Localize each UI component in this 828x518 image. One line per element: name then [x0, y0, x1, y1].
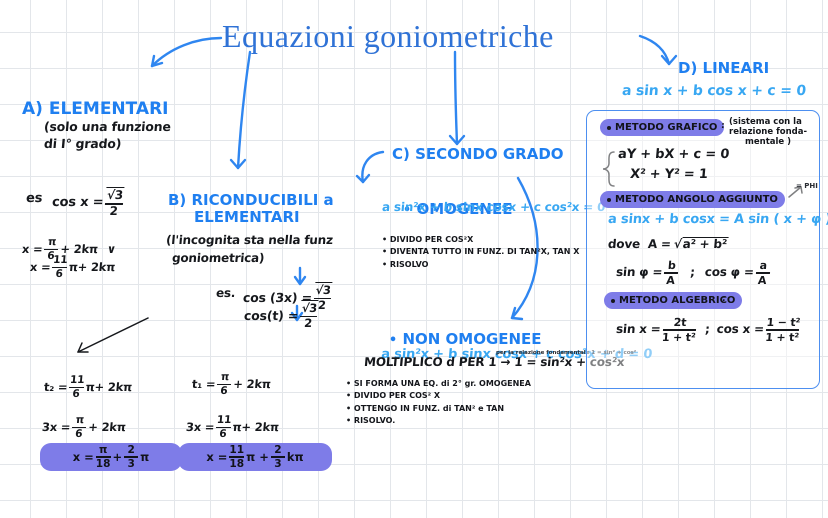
sol2-tail: + 2kπ — [77, 261, 116, 274]
sol1-num: π — [48, 237, 57, 248]
branch-left-result-pill: x = π18 + 23 π — [40, 443, 182, 471]
metodo-angolo-label: METODO ANGOLO AGGIUNTO — [615, 194, 778, 205]
non-omogenee-step-0: • SI FORMA UNA EQ. di 2° gr. OMOGENEA — [346, 378, 531, 390]
metodo-algebrico-label: METODO ALGEBRICO — [619, 295, 735, 306]
sol2-num: 11 — [53, 255, 68, 266]
section-a-example-label: es — [25, 192, 42, 207]
section-b-example-label: es. — [215, 287, 235, 300]
page-title: Equazioni goniometriche — [222, 18, 554, 55]
note-line-1: (sistema con la — [729, 117, 807, 127]
branch-left-x: 3x = π6 + 2kπ — [41, 415, 127, 440]
bullet-dot-icon — [607, 126, 611, 130]
phi-separator: ; — [690, 266, 696, 279]
bullet-dot-icon — [607, 198, 611, 202]
omogenee-formula: a sin²x + b sinx cosx + c cos²x = 0 — [381, 201, 605, 214]
branch-left-t-num: 11 — [70, 375, 85, 386]
branch-right-t: t₁ = π6 + 2kπ — [191, 372, 272, 397]
phi-note: = PHI — [796, 182, 818, 190]
system-line-2: X² + Y² = 1 — [629, 168, 708, 183]
cos-phi-den: A — [757, 275, 766, 286]
branch-left-x-num: π — [75, 415, 84, 426]
metodo-grafico-label: METODO GRAFICO — [615, 122, 717, 133]
section-b-eq-num: √3 — [314, 282, 333, 297]
branch-left-x-den: 6 — [75, 429, 83, 440]
section-a-solution-2: x = 116 π + 2kπ — [29, 255, 116, 280]
branch-right-x-tail: + 2kπ — [241, 421, 280, 434]
branch-left-result-num: π — [99, 445, 107, 456]
branch-right-t-den: 6 — [220, 386, 228, 397]
branch-right-x: 3x = 116 π + 2kπ — [185, 415, 280, 440]
alg-cos-label: cos x = — [716, 323, 764, 336]
alg-cos-num: 1 − t² — [766, 317, 800, 328]
omogenee-step-0: • DIVIDO PER COS²X — [382, 234, 579, 246]
sin-phi-den: A — [666, 275, 675, 286]
section-a-eq-num: √3 — [105, 187, 124, 202]
metodo-angolo-phi-relations: sin φ = bA ; cos φ = aA — [615, 260, 773, 286]
branch-right-result-pill: x = 1118 π + 23 kπ — [178, 443, 332, 471]
substitution-den: 2 — [304, 318, 313, 330]
non-omogenee-steps: • SI FORMA UNA EQ. di 2° gr. OMOGENEA • … — [346, 378, 531, 428]
branch-left-t: t₂ = 116 π + 2kπ — [43, 375, 133, 400]
non-omogenee-step-1: • DIVIDO PER COS² X — [346, 390, 531, 402]
branch-right-x-lead: 3x = — [185, 421, 214, 434]
section-d-heading: D) LINEARI — [678, 60, 769, 77]
section-b-heading-2: ELEMENTARI — [194, 209, 300, 226]
metodo-algebrico-substitutions: sin x = 2t1 + t² ; cos x = 1 − t²1 + t² — [615, 317, 803, 343]
branch-left-t-den: 6 — [72, 389, 80, 400]
branch-right-t-num: π — [220, 372, 229, 383]
where-label: dove A = — [607, 238, 671, 251]
branch-right-result-num2: 2 — [274, 445, 281, 456]
branch-left-result-den: 18 — [96, 459, 111, 470]
section-a-eq-lhs: cos x = — [51, 196, 104, 211]
branch-left-result-lead: x = — [73, 450, 94, 464]
omogenee-step-1: • DIVENTA TUTTO IN FUNZ. DI TAN²X, TAN X — [382, 246, 579, 258]
alg-sin-label: sin x = — [615, 323, 661, 336]
alg-sin-den: 1 + t² — [661, 332, 695, 343]
branch-left-t-label: t₂ = — [43, 381, 68, 394]
section-b-subtitle-2: goniometrica) — [171, 252, 264, 265]
branch-right-result-lead: x = — [206, 450, 227, 464]
section-b-substitution: cos(t) = √32 — [243, 303, 321, 330]
section-a-eq-fraction: √3 2 — [104, 190, 124, 218]
substitution-lhs: cos(t) = — [243, 309, 298, 323]
branch-left-result-den2: 3 — [127, 459, 134, 470]
branch-left-result-tail: π — [140, 450, 149, 464]
section-d-formula: a sin x + b cos x + c = 0 — [621, 84, 806, 100]
metodo-grafico-note: (sistema con la relazione fonda- mentale… — [729, 117, 807, 147]
metodo-angolo-formula: a sinx + b cosx = A sin ( x + φ ) — [607, 213, 828, 228]
omogenee-steps: • DIVIDO PER COS²X • DIVENTA TUTTO IN FU… — [382, 234, 579, 271]
branch-left-x-tail: + 2kπ — [88, 421, 127, 434]
branch-right-t-label: t₁ = — [191, 378, 216, 391]
metodo-grafico-pill: METODO GRAFICO — [600, 119, 724, 136]
cos-phi-num: a — [759, 260, 767, 271]
branch-left-result-num2: 2 — [127, 445, 134, 456]
branch-right-x-den: 6 — [219, 429, 227, 440]
note-line-2: relazione fonda- — [729, 127, 807, 137]
metodo-angolo-pill: METODO ANGOLO AGGIUNTO — [600, 191, 785, 208]
section-c-heading: C) SECONDO GRADO — [392, 146, 564, 163]
where-radicand: a² + b² — [681, 237, 728, 251]
sin-phi-num: b — [668, 260, 677, 271]
sol2-lead: x = — [29, 261, 51, 274]
section-a-subtitle-1: (solo una funzione — [43, 120, 171, 134]
branch-right-result-num: 11 — [229, 445, 244, 456]
branch-right-t-tail: + 2kπ — [233, 378, 272, 391]
section-a-eq-den: 2 — [109, 206, 118, 218]
substitution-num: √3 — [300, 300, 319, 315]
branch-left-x-lead: 3x = — [41, 421, 70, 434]
sol1-lead: x = — [21, 243, 43, 256]
alg-sin-num: 2t — [673, 317, 687, 328]
bullet-dot-icon — [611, 299, 615, 303]
branch-left-t-tail: + 2kπ — [94, 381, 133, 394]
cos-phi-label: cos φ = — [704, 266, 754, 279]
section-a-subtitle-2: di I° grado) — [43, 137, 121, 151]
sol2-den: 6 — [55, 269, 63, 280]
note-line-3: mentale ) — [729, 137, 807, 147]
branch-right-result-mid: π + — [246, 450, 269, 464]
non-omogenee-step-2: • OTTENGO IN FUNZ. di TAN² e TAN — [346, 403, 531, 415]
section-a-heading: A) ELEMENTARI — [22, 100, 169, 119]
sin-phi-label: sin φ = — [615, 266, 662, 279]
branch-right-result-den: 18 — [229, 459, 244, 470]
system-line-1: aY + bX + c = 0 — [617, 148, 729, 163]
section-b-subtitle-1: (l'incognita sta nella funz — [165, 234, 333, 247]
branch-right-x-num: 11 — [216, 415, 231, 426]
non-omogenee-step-3: • RISOLVO. — [346, 415, 531, 427]
metodo-angolo-where: dove A = √a² + b² — [607, 237, 728, 251]
section-b-heading-1: B) RICONDUCIBILI a — [168, 192, 334, 209]
branch-right-result-den2: 3 — [274, 459, 281, 470]
branch-right-result-tail: kπ — [287, 450, 304, 464]
alg-cos-den: 1 + t² — [765, 332, 799, 343]
sol1-check: ∨ — [106, 243, 116, 256]
section-a-example-equation: cos x = √3 2 — [51, 190, 127, 218]
omogenee-step-2: • RISOLVO — [382, 259, 579, 271]
alg-separator: ; — [704, 323, 710, 336]
